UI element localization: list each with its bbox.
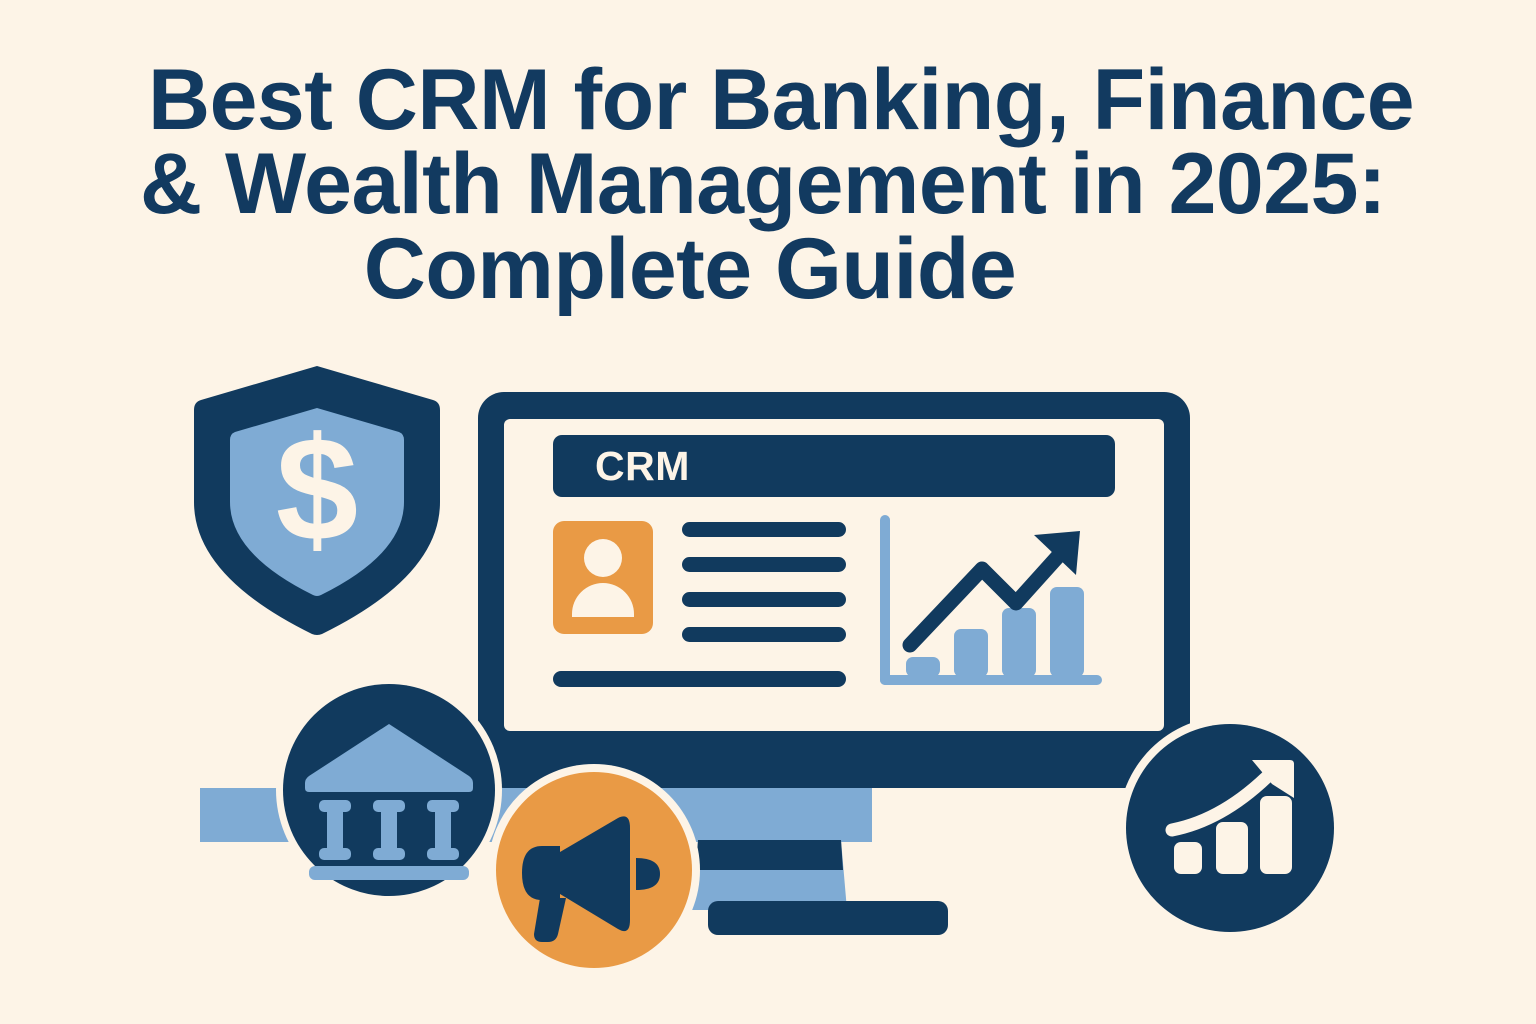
detail-line-2 bbox=[682, 557, 846, 572]
trend-line bbox=[910, 543, 1070, 645]
chart-bar-3 bbox=[1002, 608, 1036, 677]
growth-badge bbox=[1126, 724, 1334, 932]
crm-header-bar: CRM bbox=[553, 435, 1115, 497]
monitor-screen: CRM bbox=[504, 419, 1164, 731]
detail-line-wide bbox=[553, 671, 846, 687]
megaphone-badge bbox=[496, 772, 692, 968]
chart-bar-2 bbox=[954, 629, 988, 677]
crm-bar-chart bbox=[874, 511, 1114, 701]
contact-avatar-card bbox=[553, 521, 653, 634]
bank-badge bbox=[283, 684, 495, 896]
monitor-stand-neck bbox=[692, 840, 847, 910]
chart-bar-4 bbox=[1050, 587, 1084, 677]
growth-bar-3 bbox=[1260, 796, 1292, 874]
growth-bar-1 bbox=[1174, 842, 1202, 874]
crm-bar-chart-svg bbox=[874, 511, 1114, 701]
page-title-line-3: Complete Guide bbox=[120, 227, 1440, 311]
detail-line-3 bbox=[682, 592, 846, 607]
avatar-body-icon bbox=[572, 583, 634, 617]
desktop-monitor: CRM bbox=[478, 392, 1190, 788]
growth-bar-2 bbox=[1216, 822, 1248, 874]
hero-illustration: $ CRM bbox=[0, 340, 1536, 1024]
chart-bar-1 bbox=[906, 657, 940, 677]
megaphone-icon bbox=[496, 772, 692, 968]
shield-dollar-icon: $ bbox=[186, 362, 448, 640]
detail-line-1 bbox=[682, 522, 846, 537]
monitor-stand-neck-svg bbox=[692, 840, 847, 910]
crm-header-label: CRM bbox=[595, 446, 690, 487]
avatar-head-icon bbox=[584, 539, 622, 577]
bank-icon bbox=[283, 684, 495, 896]
monitor-stand-base bbox=[708, 901, 948, 935]
page-title-line-2: & Wealth Management in 2025: bbox=[120, 142, 1440, 226]
detail-line-4 bbox=[682, 627, 846, 642]
svg-text:$: $ bbox=[276, 407, 358, 572]
growth-arrow-curve bbox=[1172, 772, 1272, 830]
hero-banner: Best CRM for Banking, Finance & Wealth M… bbox=[0, 0, 1536, 1024]
growth-chart-arrow-icon bbox=[1126, 724, 1334, 932]
page-title: Best CRM for Banking, Finance & Wealth M… bbox=[120, 58, 1440, 311]
page-title-line-1: Best CRM for Banking, Finance bbox=[120, 58, 1440, 142]
shield-dollar-svg: $ bbox=[186, 362, 448, 640]
chart-y-axis bbox=[880, 515, 890, 685]
